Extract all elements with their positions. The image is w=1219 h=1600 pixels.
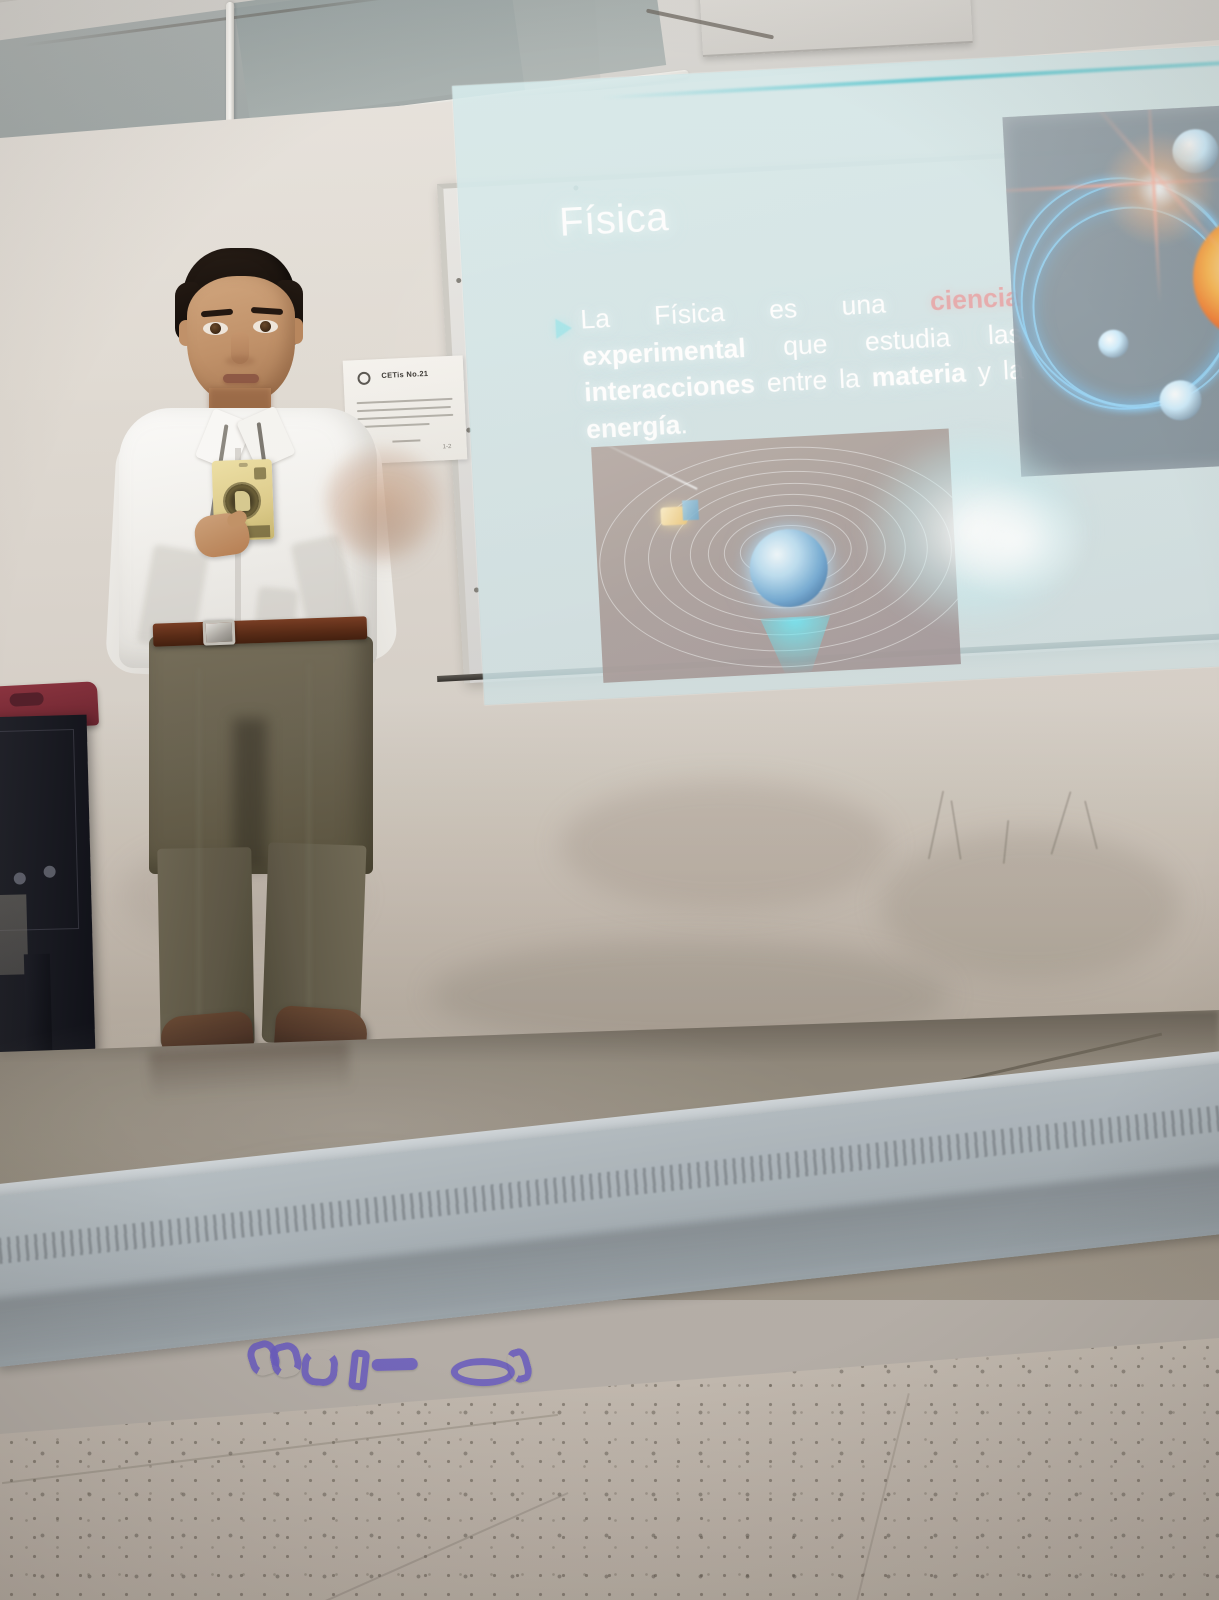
chair-backrest-slot xyxy=(9,692,44,707)
desk-leg xyxy=(24,954,53,1065)
graffiti-stroke xyxy=(348,1349,370,1391)
slide-title: Física xyxy=(558,195,670,246)
slide-highlight-word: ciencia xyxy=(929,282,1020,317)
slide-bold-word: materia xyxy=(871,358,967,393)
slide-bold-word: interacciones xyxy=(583,369,755,408)
graffiti-stroke xyxy=(372,1358,418,1371)
trouser-crease xyxy=(307,664,311,1014)
wall-smudge xyxy=(880,830,1180,980)
satellite-trail xyxy=(607,444,698,490)
graffiti-stroke xyxy=(300,1348,339,1387)
slide-text-part: . xyxy=(679,409,688,439)
badge-emblem-glyph xyxy=(235,491,251,512)
mouth xyxy=(223,374,259,383)
slide-bold-word: experimental xyxy=(582,333,747,372)
badge-footer-strip xyxy=(246,525,270,538)
slide-bold-word: energía xyxy=(585,409,681,444)
slide-body-text: La Física es una ciencia experimental qu… xyxy=(579,279,1026,448)
whiteboard-screw xyxy=(456,278,461,283)
iris-right xyxy=(260,321,271,332)
badge-slot xyxy=(239,463,248,467)
presentation-slide: Física La Física es una ciencia experime… xyxy=(452,45,1219,705)
triangle-bullet-icon xyxy=(555,318,572,339)
belt-buckle xyxy=(203,619,236,645)
trouser-crease xyxy=(197,668,201,1018)
trouser-shadow xyxy=(233,718,267,868)
desk xyxy=(0,715,95,1058)
right-hand-motion-blur-secondary xyxy=(341,484,431,570)
presenter xyxy=(105,248,450,1058)
floor-speckle-texture xyxy=(0,1338,1219,1600)
shoe-reflection xyxy=(149,1041,351,1101)
satellite-solar-panel xyxy=(682,500,699,521)
slide-text-part: entre la xyxy=(754,363,872,399)
projector-hotspot-core xyxy=(940,480,1090,600)
photo-scene: Física La Física es una ciencia experime… xyxy=(0,0,1219,1600)
wall-smudge xyxy=(560,780,890,910)
badge-secondary-logo xyxy=(254,467,266,479)
graffiti-stroke xyxy=(451,1358,515,1387)
atom-illustration xyxy=(1002,105,1219,477)
nose-shadow xyxy=(225,356,255,366)
iris-left xyxy=(210,323,221,334)
graffiti-stroke xyxy=(267,1340,304,1380)
